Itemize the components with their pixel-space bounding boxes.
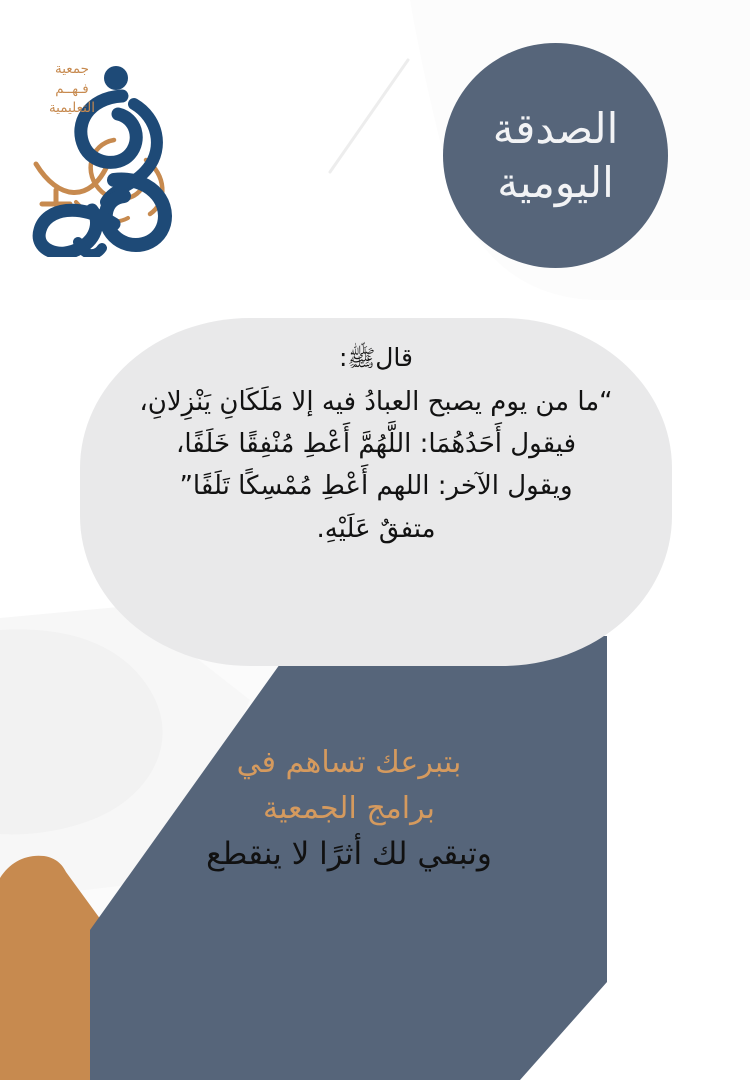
salawat-icon: ﷺ [347,346,375,372]
cta-line-2: برامج الجمعية [90,786,608,832]
hadith-content: قالﷺ: “ما من يوم يصبح العبادُ فيه إلا مَ… [80,340,672,550]
top-accent-bar [0,0,256,22]
hadith-line-1: “ما من يوم يصبح العبادُ فيه إلا مَلَكَان… [80,381,672,423]
hadith-line-3: ويقول الآخر: اللهم أَعْطِ مُمْسِكًا تَلَ… [80,465,672,507]
cta-message: بتبرعك تساهم في برامج الجمعية وتبقي لك أ… [90,740,608,878]
hadith-attribution-prefix: قال [375,343,413,372]
logo-word-1: جمعية [26,60,118,80]
logo-word-2: فـهــم [26,80,118,100]
logo-word-3: التعليمية [26,99,118,119]
hadith-source: متفقٌ عَلَيْهِ. [80,508,672,550]
title-circle: الصدقة اليومية [443,43,668,268]
logo-wordmark: جمعية فـهــم التعليمية [26,60,118,119]
title-line-2: اليومية [497,159,614,206]
cta-line-3: وتبقي لك أثرًا لا ينقطع [90,831,608,878]
title-line-1: الصدقة [493,105,619,152]
cta-line-1: بتبرعك تساهم في [90,740,608,786]
hadith-line-2: فيقول أَحَدُهُمَا: اللَّهُمَّ أَعْطِ مُن… [80,423,672,465]
poster-canvas: جمعية فـهــم التعليمية الصدقة اليومية قا… [0,0,750,1080]
association-logo: جمعية فـهــم التعليمية [18,52,218,257]
hadith-attribution: قالﷺ: [80,340,672,375]
